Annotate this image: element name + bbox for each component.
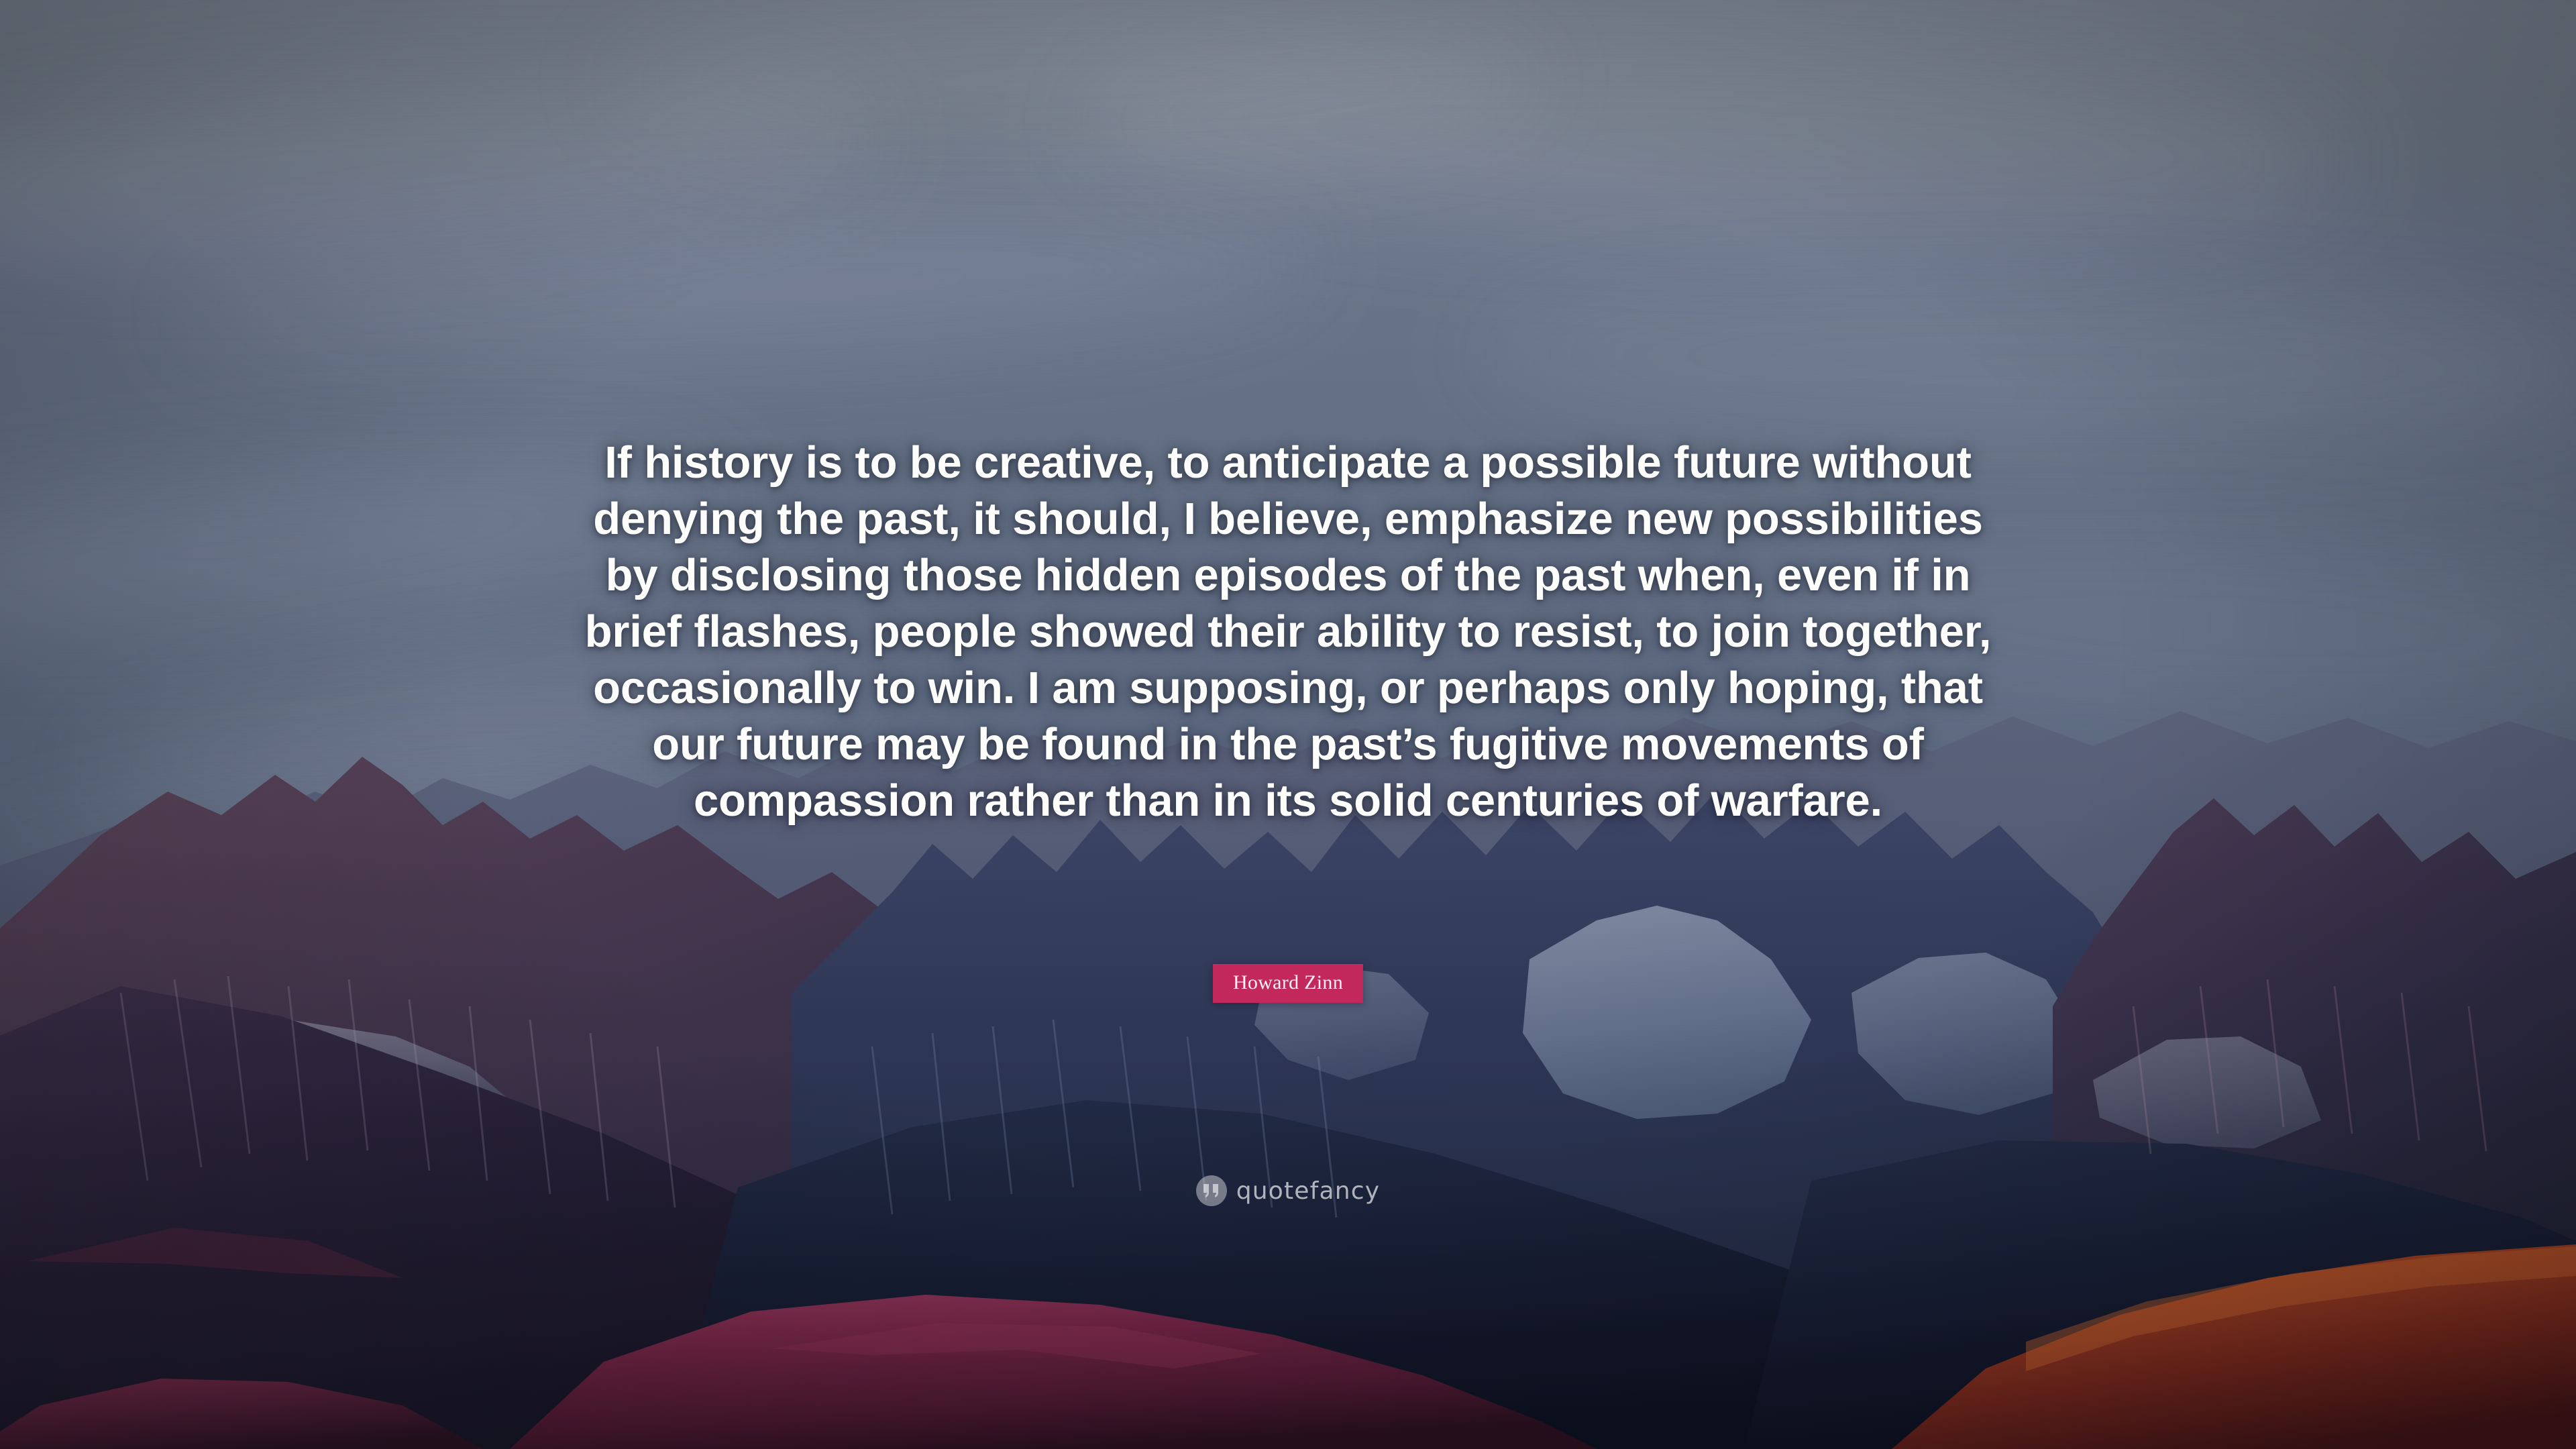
quote-line: our future may be found in the past’s fu… [241,716,2334,773]
quote-line: by disclosing those hidden episodes of t… [241,547,2334,604]
watermark[interactable]: quotefancy [0,1175,2576,1206]
sky-horizon-shadow [0,797,2576,1449]
author-badge[interactable]: Howard Zinn [1213,964,1363,1003]
author-row: Howard Zinn [0,964,2576,1003]
quote-block: If history is to be creative, to anticip… [0,435,2576,829]
quote-line: occasionally to win. I am supposing, or … [241,660,2334,716]
quote-line: denying the past, it should, I believe, … [241,491,2334,547]
quote-line: If history is to be creative, to anticip… [241,435,2334,491]
wallpaper-canvas: If history is to be creative, to anticip… [0,0,2576,1449]
watermark-brand: quotefancy [1236,1177,1381,1205]
quote-line: brief flashes, people showed their abili… [241,604,2334,660]
quote-line: compassion rather than in its solid cent… [241,773,2334,829]
quote-mark-icon [1196,1175,1227,1206]
